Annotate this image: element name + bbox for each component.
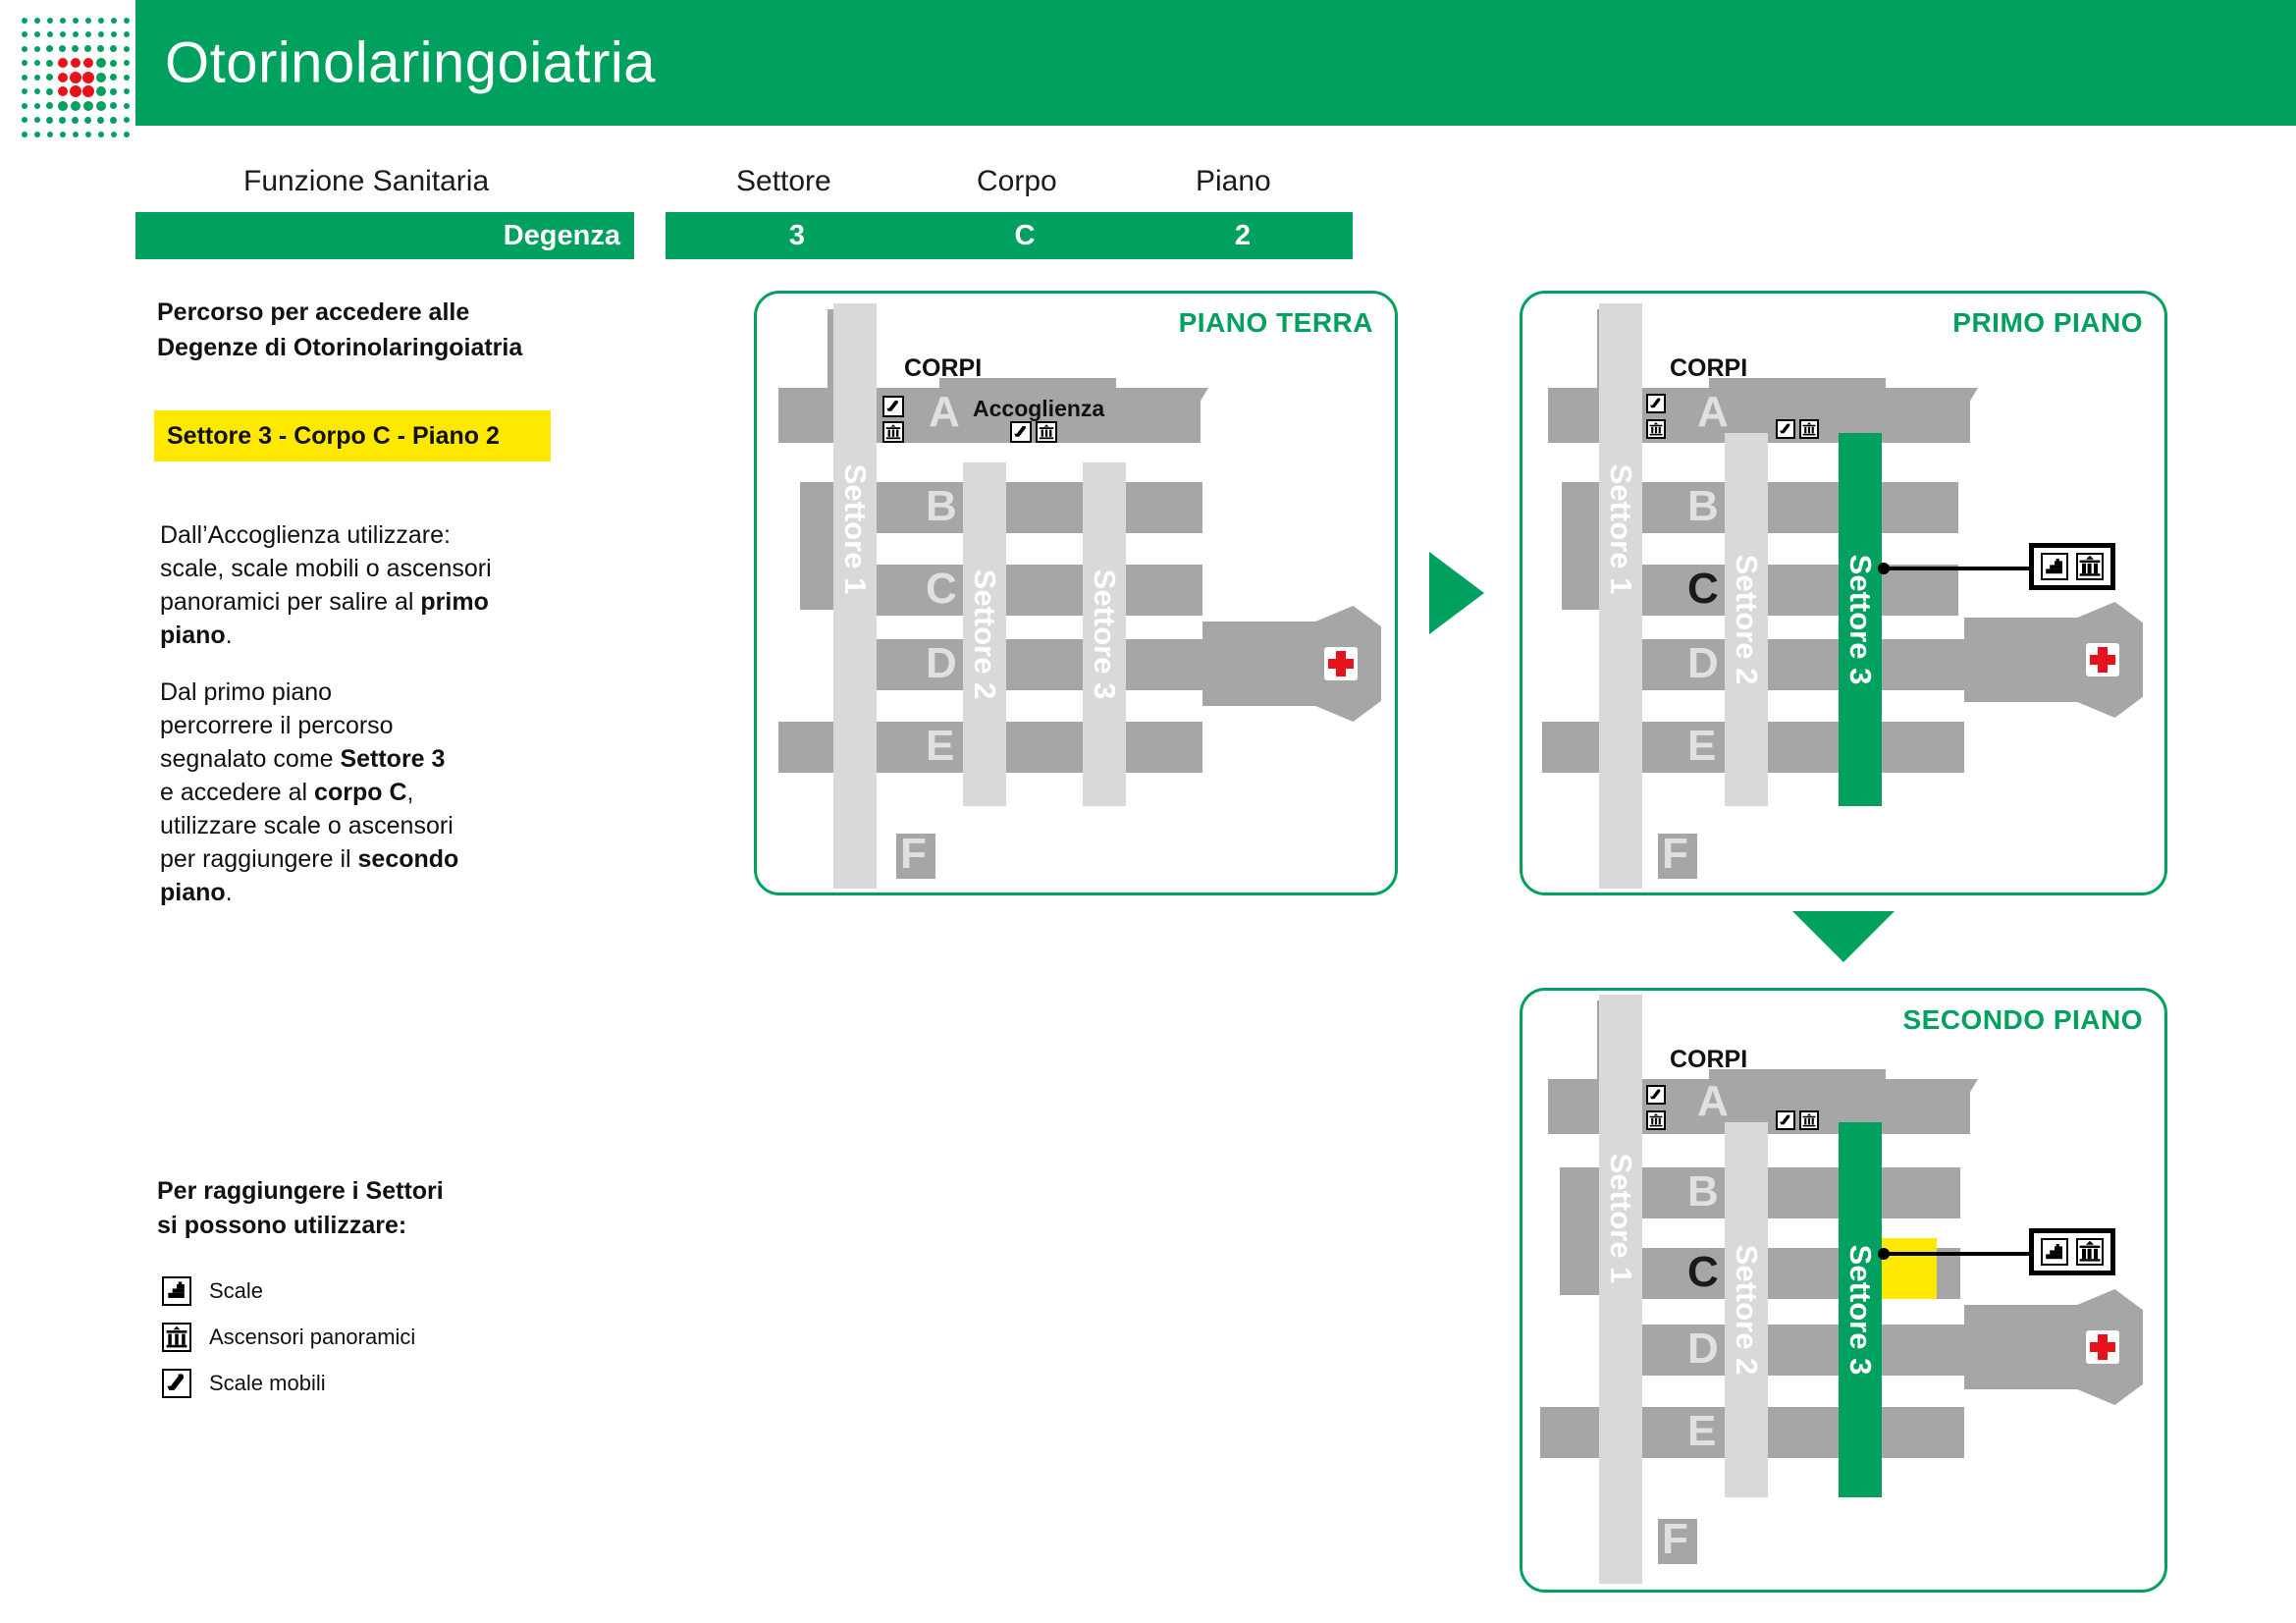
logo-dot [124,75,130,81]
destination-highlight-text: Settore 3 - Corpo C - Piano 2 [167,422,500,451]
escalator-icon [1010,421,1032,443]
settore-1-corridor-first[interactable]: Settore 1 [1599,303,1642,889]
escalator-icon [1646,1085,1666,1105]
logo-dot [96,73,106,82]
value-funzione-sanitaria: Degenza [135,212,634,259]
map-title-primo-piano: PRIMO PIANO [1952,307,2143,339]
corpo-label-c-second: C [1687,1248,1719,1297]
panoramic-elevator-icon [1036,421,1057,443]
column-label-funzione-sanitaria: Funzione Sanitaria [243,165,489,198]
dot-matrix-logo [18,14,135,143]
value-corpo: C [1015,220,1036,252]
legend-heading-line1: Per raggiungere i Settori [157,1174,569,1209]
instruction-paragraph-1: Dall’Accoglienza utilizzare:scale, scale… [160,518,553,652]
corpo-label-e-ground: E [926,722,954,771]
corpo-label-a-first: A [1697,388,1729,437]
logo-dot [58,101,68,111]
logo-dot [47,18,53,24]
stairs-icon [2041,553,2068,580]
logo-dot [124,18,130,24]
logo-dot [46,74,53,81]
map-piano-terra[interactable]: PIANO TERRA CORPI Accoglienza A B C D E [754,291,1398,895]
logo-dot [58,58,68,68]
logo-dot [84,117,91,124]
instructions-heading-line1: Percorso per accedere alle [157,295,618,330]
logo-dot [124,31,130,37]
settore-1-label-ground: Settore 1 [837,464,873,595]
legend-heading: Per raggiungere i Settori si possono uti… [157,1174,569,1243]
logo-dot [60,18,66,24]
logo-dot [124,88,130,94]
panoramic-elevator-icon [2076,1238,2104,1266]
settore-2-corridor-ground[interactable]: Settore 2 [963,462,1006,806]
value-bar-settore-corpo-piano: 3 C 2 [666,212,1353,259]
red-cross-icon [2086,643,2119,676]
corpo-label-b-second: B [1687,1167,1719,1217]
settore-3-label-ground: Settore 3 [1087,569,1122,700]
logo-dot [85,31,91,37]
logo-dot [46,102,53,109]
corpo-b-band [849,482,1202,533]
logo-dot [111,18,117,24]
arrow-right-to-primo-piano [1429,552,1484,634]
corpo-b-band [1617,482,1958,533]
panoramic-elevator-icon [2076,553,2104,580]
logo-dot [110,45,117,52]
settore-1-label-first: Settore 1 [1603,464,1638,595]
logo-dot [83,101,93,111]
corpo-label-f-first: F [1662,830,1688,879]
logo-dot [82,85,94,97]
logo-dot [110,117,117,124]
corpo-label-d-second: D [1687,1325,1719,1374]
logo-dot [34,88,40,94]
logo-dot [22,132,27,137]
settore-2-corridor-first[interactable]: Settore 2 [1725,433,1768,806]
corpo-label-f-second: F [1662,1515,1688,1564]
accoglienza-label: Accoglienza [973,396,1104,422]
logo-dot [34,75,40,81]
logo-dot [73,31,79,37]
legend-item-scale-mobili: Scale mobili [162,1369,326,1398]
escalator-icon [882,396,904,417]
corpo-label-a-second: A [1697,1077,1729,1126]
corpo-label-d-first: D [1687,639,1719,688]
escalator-icon [162,1369,191,1398]
settore-1-corridor-ground[interactable]: Settore 1 [833,303,877,889]
logo-dot [111,132,117,137]
settore-2-label-ground: Settore 2 [967,569,1002,700]
header-band: Otorinolaringoiatria [135,0,2296,126]
logo-dot [47,31,53,37]
logo-dot [98,18,104,24]
logo-dot [58,73,68,82]
settore-2-label-first: Settore 2 [1729,555,1764,685]
logo-dot [84,45,91,52]
logo-dot [96,86,106,96]
column-label-corpo: Corpo [977,165,1057,198]
corpo-label-e-second: E [1687,1407,1716,1456]
logo-dot [83,58,93,68]
instructions-heading: Percorso per accedere alle Degenze di Ot… [157,295,618,366]
logo-dot [71,58,80,68]
settore-3-corridor-first[interactable]: Settore 3 [1839,433,1882,806]
arrow-down-to-secondo-piano [1792,911,1895,962]
logo-dot [60,31,66,37]
logo-dot [85,18,91,24]
logo-dot [47,132,53,137]
value-piano: 2 [1235,220,1251,252]
logo-dot [34,31,40,37]
corpo-label-e-first: E [1687,722,1716,771]
logo-dot [124,132,130,137]
value-degenza-text: Degenza [504,220,620,252]
map-title-secondo-piano: SECONDO PIANO [1902,1004,2143,1036]
corpo-label-a-ground: A [929,388,960,437]
logo-dot [34,132,40,137]
corpo-label-c-ground: C [926,565,957,614]
legend-item-ascensori-panoramici: Ascensori panoramici [162,1323,415,1352]
logo-dot [98,31,104,37]
logo-dot [34,103,40,109]
logo-dot [46,45,53,52]
legend-label-ascensori-panoramici: Ascensori panoramici [209,1325,415,1350]
value-settore: 3 [789,220,805,252]
logo-dot [22,103,27,109]
legend-label-scale: Scale [209,1278,263,1304]
panoramic-elevator-icon [1646,419,1666,439]
panoramic-elevator-icon [882,421,904,443]
stairs-icon [162,1276,191,1306]
callout-leader-line [1884,567,2031,570]
logo-dot [110,60,117,67]
settore-3-label-second: Settore 3 [1842,1245,1878,1376]
panoramic-elevator-icon [1799,1110,1819,1130]
logo-dot [59,45,66,52]
logo-dot [124,103,130,109]
destination-marker-degenza [1882,1238,1937,1299]
logo-dot [46,60,53,67]
logo-dot [22,117,27,123]
logo-dot [70,72,81,83]
logo-dot [34,117,40,123]
logo-dot [72,117,79,124]
settore-3-label-first: Settore 3 [1842,555,1878,685]
logo-dot [124,60,130,66]
logo-dot [22,88,27,94]
escalator-icon [1776,419,1795,439]
logo-dot [97,117,104,124]
corpi-label-first: CORPI [1670,354,1747,383]
destination-highlight-badge: Settore 3 - Corpo C - Piano 2 [154,410,551,461]
callout-access-second [2029,1228,2115,1275]
corpo-c-band [849,565,1202,616]
logo-dot [72,45,79,52]
corpo-label-b-first: B [1687,482,1719,531]
corpo-b-band [1617,1167,1960,1218]
legend-label-scale-mobili: Scale mobili [209,1371,326,1396]
logo-dot [22,60,27,66]
logo-dot [73,18,79,24]
settore-1-label-second: Settore 1 [1603,1154,1638,1284]
logo-dot [70,85,81,97]
callout-access-first [2029,543,2115,590]
panoramic-elevator-icon [1646,1110,1666,1130]
legend-item-scale: Scale [162,1276,263,1306]
logo-dot [111,31,117,37]
corpo-label-b-ground: B [926,482,957,531]
logo-dot [22,18,27,24]
page-title: Otorinolaringoiatria [165,30,656,96]
settore-3-corridor-second[interactable]: Settore 3 [1839,1122,1882,1497]
logo-dot [60,132,66,137]
logo-dot [59,117,66,124]
corpo-label-f-ground: F [900,830,927,879]
corpo-label-c-first: C [1687,565,1719,614]
logo-dot [22,31,27,37]
logo-dot [22,46,27,52]
escalator-icon [1646,394,1666,413]
map-primo-piano[interactable]: PRIMO PIANO CORPI A B C D E F [1520,291,2167,895]
corpo-c-band [1617,565,1958,616]
page-root: Otorinolaringoiatria Funzione Sanitaria … [0,0,2296,1623]
logo-dot [110,74,117,81]
corpi-label-second: CORPI [1670,1046,1747,1074]
panoramic-elevator-icon [162,1323,191,1352]
instruction-paragraph-2: Dal primo pianopercorrere il percorsoseg… [160,676,553,909]
logo-dot [34,18,40,24]
logo-dot [46,117,53,124]
legend-heading-line2: si possono utilizzare: [157,1209,569,1243]
red-cross-icon [1324,647,1358,680]
logo-dot [71,101,80,111]
escalator-icon [1776,1110,1795,1130]
logo-dot [85,132,91,137]
logo-dot [97,45,104,52]
settore-2-corridor-second[interactable]: Settore 2 [1725,1122,1768,1497]
column-label-piano: Piano [1196,165,1271,198]
logo-dot [96,101,106,111]
logo-dot [34,60,40,66]
settore-2-label-second: Settore 2 [1729,1245,1764,1376]
panoramic-elevator-icon [1799,419,1819,439]
settore-1-corridor-second[interactable]: Settore 1 [1599,995,1642,1584]
logo-dot [110,102,117,109]
logo-dot [22,75,27,81]
settore-3-corridor-ground[interactable]: Settore 3 [1083,462,1126,806]
instructions-heading-line2: Degenze di Otorinolaringoiatria [157,330,618,365]
logo-dot [124,46,130,52]
corpo-label-d-ground: D [926,639,957,688]
map-title-piano-terra: PIANO TERRA [1179,307,1373,339]
corpi-label-ground: CORPI [904,354,982,383]
red-cross-icon [2086,1330,2119,1364]
logo-dot [58,86,68,96]
column-label-settore: Settore [736,165,831,198]
logo-dot [110,88,117,95]
logo-dot [124,117,130,123]
logo-dot [34,46,40,52]
logo-dot [46,88,53,95]
map-secondo-piano[interactable]: SECONDO PIANO CORPI A B C D E F [1520,988,2167,1593]
logo-dot [96,58,106,68]
stairs-icon [2041,1238,2068,1266]
logo-dot [73,132,79,137]
logo-dot [82,72,94,83]
logo-dot [98,132,104,137]
callout-leader-line [1884,1252,2031,1256]
